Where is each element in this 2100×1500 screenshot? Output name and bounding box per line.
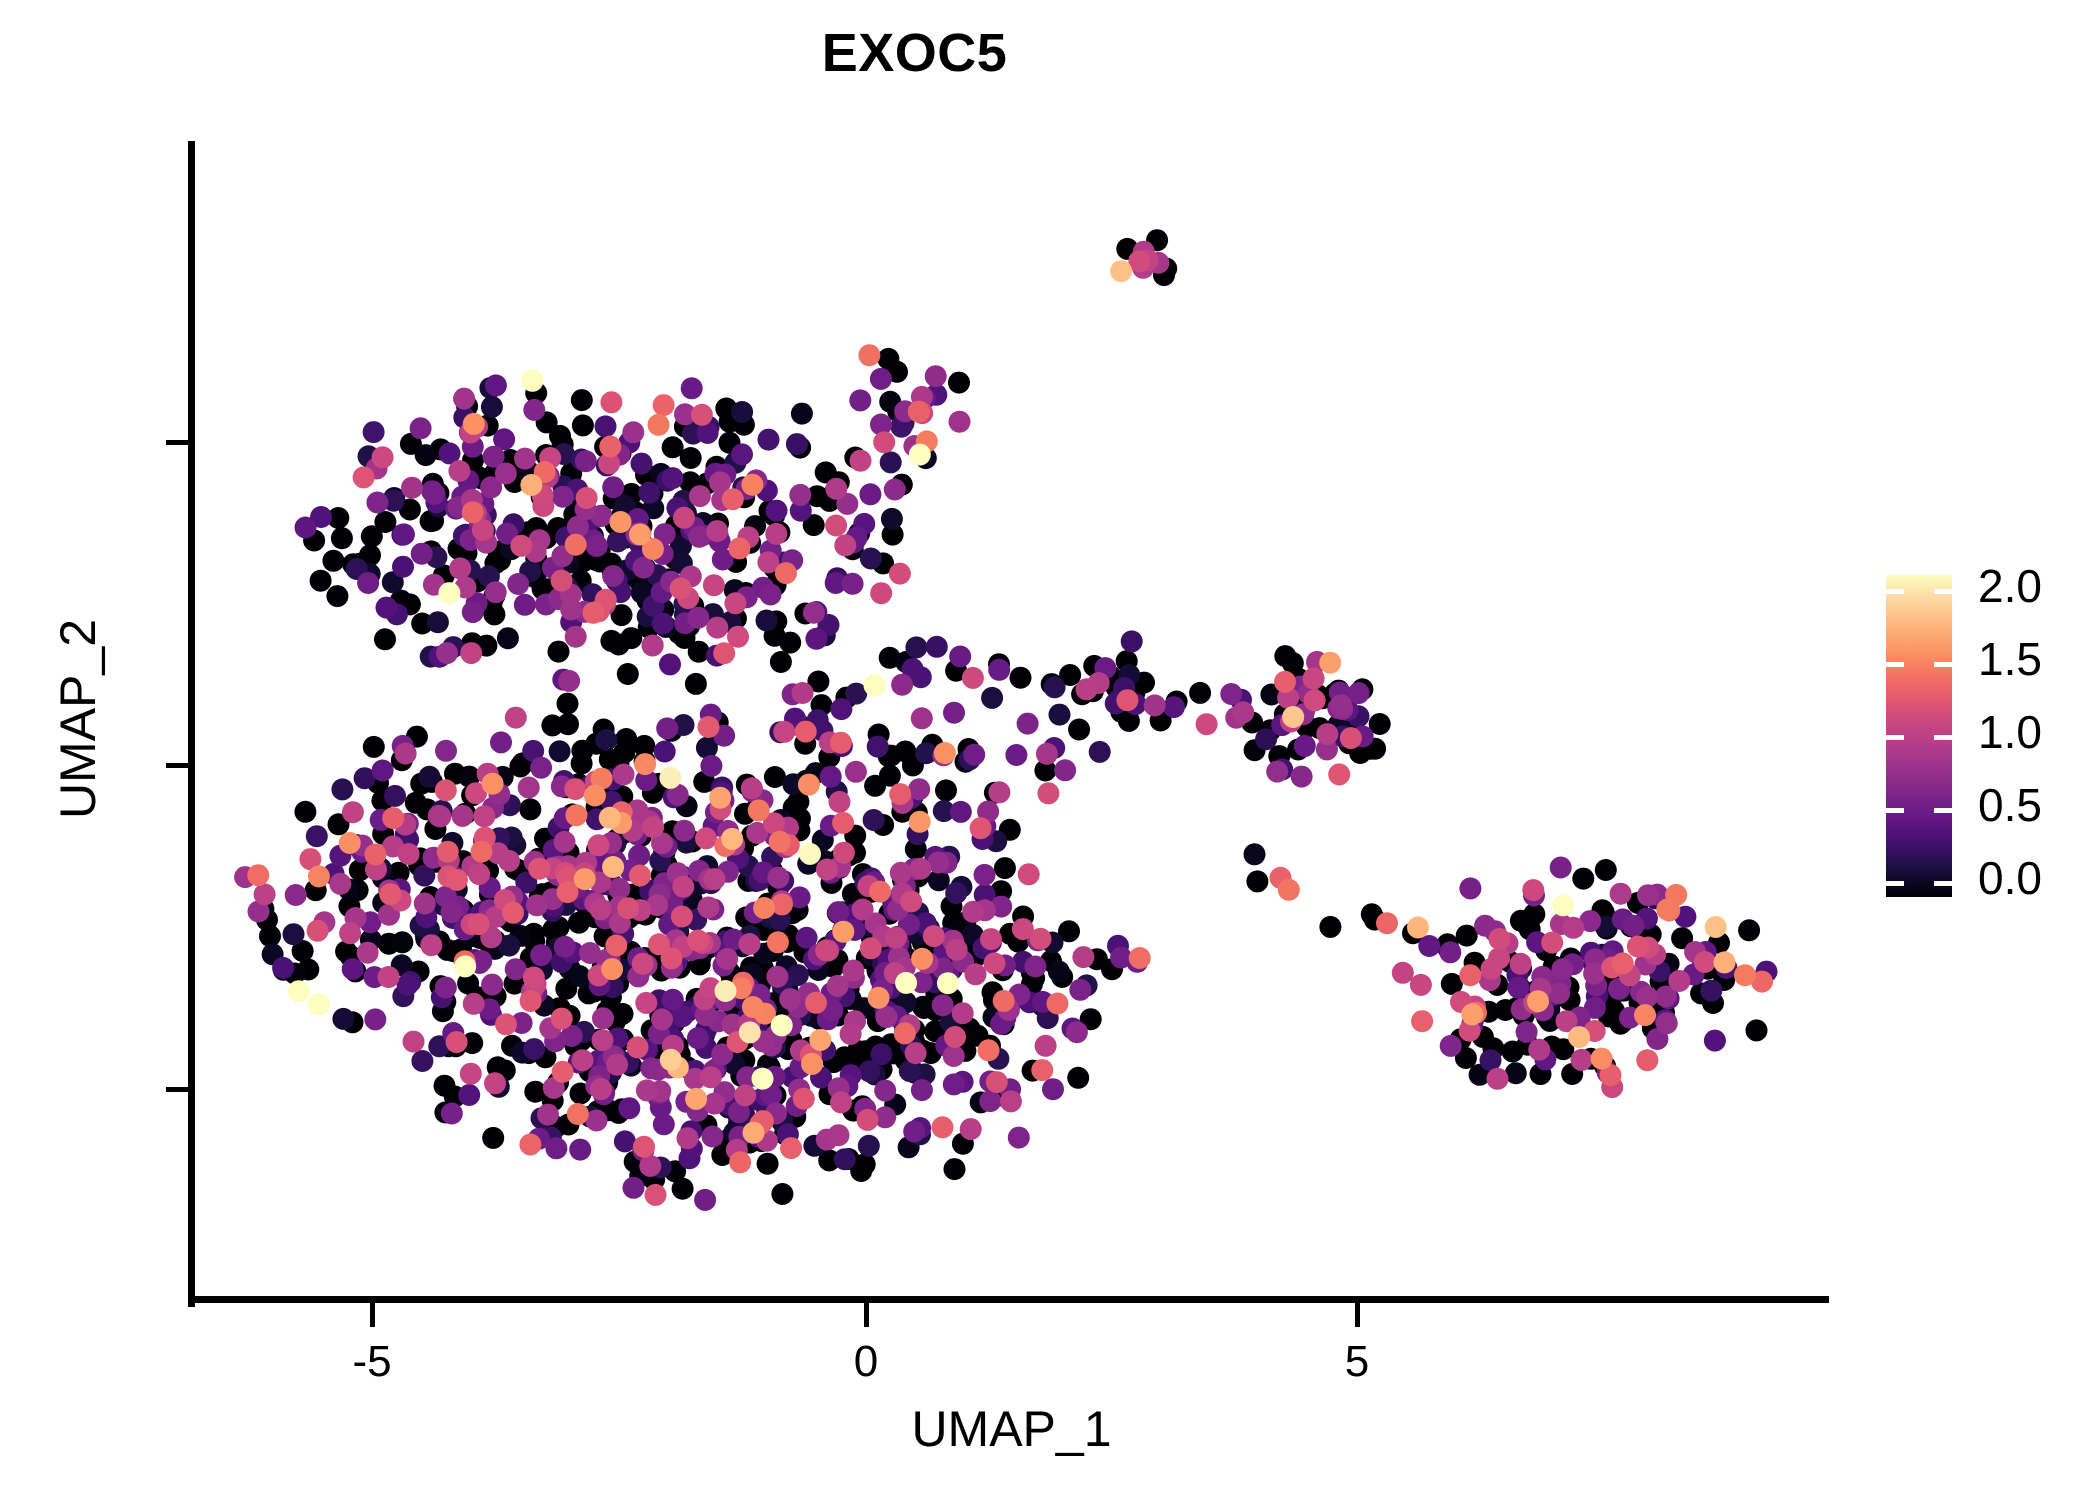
scatter-point — [590, 898, 612, 920]
scatter-point — [1024, 956, 1046, 978]
scatter-point — [963, 744, 985, 766]
scatter-point — [510, 535, 532, 557]
scatter-point — [1705, 916, 1727, 938]
scatter-point — [767, 931, 789, 953]
scatter-point — [1714, 951, 1736, 973]
scatter-point — [623, 1177, 645, 1199]
scatter-point — [653, 394, 675, 416]
scatter-point — [673, 507, 695, 529]
scatter-point — [943, 1073, 965, 1095]
scatter-point — [771, 1183, 793, 1205]
scatter-point — [595, 415, 617, 437]
scatter-point — [758, 429, 780, 451]
scatter-point — [689, 485, 711, 507]
scatter-point — [1294, 735, 1316, 757]
scatter-point — [715, 980, 737, 1002]
scatter-point — [1129, 947, 1151, 969]
scatter-point — [864, 775, 886, 797]
scatter-point — [786, 433, 808, 455]
scatter-point — [1636, 1049, 1658, 1071]
scatter-point — [481, 396, 503, 418]
scatter-point — [687, 1027, 709, 1049]
scatter-point — [852, 899, 874, 921]
scatter-point — [756, 610, 778, 632]
scatter-point — [1196, 713, 1218, 735]
scatter-point — [795, 721, 817, 743]
scatter-point — [411, 543, 433, 565]
scatter-point — [1410, 974, 1432, 996]
scatter-point — [452, 805, 474, 827]
scatter-point — [1067, 1067, 1089, 1089]
scatter-point — [490, 731, 512, 753]
scatter-point — [905, 1042, 927, 1064]
scatter-point — [372, 446, 394, 468]
scatter-point — [978, 1039, 1000, 1061]
scatter-point — [1392, 962, 1414, 984]
colorbar-tick-0-5-left — [1886, 808, 1904, 813]
scatter-point — [798, 774, 820, 796]
scatter-point — [970, 817, 992, 839]
colorbar-label-2-0: 2.0 — [1978, 559, 2042, 613]
scatter-point — [548, 641, 570, 663]
scatter-point — [983, 952, 1005, 974]
scatter-point — [773, 721, 795, 743]
scatter-point — [713, 642, 735, 664]
scatter-point — [909, 811, 931, 833]
scatter-point — [670, 578, 692, 600]
scatter-point — [520, 474, 542, 496]
scatter-point — [870, 1043, 892, 1065]
scatter-point — [514, 448, 536, 470]
scatter-point — [1541, 932, 1563, 954]
scatter-point — [860, 937, 882, 959]
scatter-point — [816, 859, 838, 881]
scatter-point — [331, 778, 353, 800]
scatter-point — [1017, 713, 1039, 735]
scatter-point — [1035, 1035, 1057, 1057]
scatter-point — [339, 922, 361, 944]
scatter-point — [741, 777, 763, 799]
scatter-point — [391, 931, 413, 953]
scatter-point — [645, 1184, 667, 1206]
scatter-point — [602, 476, 624, 498]
scatter-point — [960, 1118, 982, 1140]
scatter-point — [551, 570, 573, 592]
scatter-point — [734, 1084, 756, 1106]
scatter-point — [1548, 982, 1570, 1004]
scatter-point — [945, 882, 967, 904]
scatter-point — [307, 920, 329, 942]
scatter-point — [1694, 951, 1716, 973]
scatter-point — [571, 753, 593, 775]
scatter-point — [791, 403, 813, 425]
scatter-point — [471, 841, 493, 863]
scatter-point — [827, 901, 849, 923]
scatter-point — [688, 641, 710, 663]
scatter-point — [364, 1008, 386, 1030]
scatter-point — [867, 736, 889, 758]
scatter-point — [610, 511, 632, 533]
scatter-point — [779, 632, 801, 654]
scatter-point — [627, 1036, 649, 1058]
colorbar-label-1-0: 1.0 — [1978, 705, 2042, 759]
x-axis-line — [188, 1296, 1829, 1303]
scatter-point — [1144, 694, 1166, 716]
scatter-point — [638, 482, 660, 504]
scatter-point — [485, 581, 507, 603]
scatter-point — [1069, 979, 1091, 1001]
scatter-point — [932, 1116, 954, 1138]
scatter-point — [599, 436, 621, 458]
scatter-point — [361, 525, 383, 547]
scatter-point — [729, 1151, 751, 1173]
scatter-point — [332, 1008, 354, 1030]
scatter-point — [495, 463, 517, 485]
scatter-point — [590, 1078, 612, 1100]
scatter-point — [962, 667, 984, 689]
scatter-point — [801, 1053, 823, 1075]
scatter-point — [353, 466, 375, 488]
scatter-point — [895, 972, 917, 994]
scatter-point — [1319, 652, 1341, 674]
scatter-point — [606, 1054, 628, 1076]
scatter-point — [825, 478, 847, 500]
scatter-point — [742, 996, 764, 1018]
scatter-point — [934, 742, 956, 764]
scatter-point — [551, 1008, 573, 1030]
scatter-point — [1340, 727, 1362, 749]
scatter-point — [1266, 761, 1288, 783]
scatter-point — [468, 913, 490, 935]
scatter-point — [1440, 1035, 1462, 1057]
scatter-point — [770, 651, 792, 673]
scatter-point — [1330, 694, 1352, 716]
scatter-point — [1376, 912, 1398, 934]
x-tick-mark-m5 — [370, 1303, 375, 1327]
scatter-point — [870, 582, 892, 604]
scatter-point — [731, 401, 753, 423]
scatter-point — [1246, 870, 1268, 892]
scatter-point — [765, 523, 787, 545]
scatter-point — [602, 856, 624, 878]
scatter-point — [401, 477, 423, 499]
scatter-point — [873, 431, 895, 453]
scatter-point — [769, 831, 791, 853]
scatter-point — [994, 857, 1016, 879]
scatter-point — [909, 444, 931, 466]
scatter-point — [1627, 936, 1649, 958]
y-axis-title: UMAP_2 — [49, 369, 107, 1069]
scatter-point — [949, 646, 971, 668]
colorbar-legend: 2.0 1.5 1.0 0.5 0.0 — [1886, 575, 2086, 900]
scatter-point — [460, 642, 482, 664]
scatter-point — [858, 1135, 880, 1157]
scatter-point — [436, 642, 458, 664]
scatter-point — [891, 674, 913, 696]
scatter-point — [342, 958, 364, 980]
scatter-point — [374, 628, 396, 650]
scatter-point — [392, 556, 414, 578]
scatter-point — [858, 344, 880, 366]
scatter-point — [857, 1109, 879, 1131]
scatter-point — [1634, 1004, 1656, 1026]
scatter-point — [1487, 1068, 1509, 1090]
scatter-point — [485, 374, 507, 396]
scatter-point — [595, 729, 617, 751]
scatter-point — [753, 897, 775, 919]
scatter-point — [574, 868, 596, 890]
scatter-point — [880, 451, 902, 473]
scatter-point — [1110, 260, 1132, 282]
scatter-point — [739, 1021, 761, 1043]
scatter-point — [395, 743, 417, 765]
scatter-point — [944, 1026, 966, 1048]
scatter-point — [662, 467, 684, 489]
scatter-point — [1522, 879, 1544, 901]
scatter-point — [889, 563, 911, 585]
scatter-point — [326, 585, 348, 607]
scatter-point — [884, 479, 906, 501]
scatter-point — [446, 869, 468, 891]
scatter-point — [523, 967, 545, 989]
scatter-point — [1704, 1030, 1726, 1052]
scatter-point — [435, 740, 457, 762]
scatter-point — [1461, 1003, 1483, 1025]
scatter-point — [283, 923, 305, 945]
scatter-point — [793, 1088, 815, 1110]
scatter-point — [254, 883, 276, 905]
scatter-point — [520, 990, 542, 1012]
scatter-point — [557, 693, 579, 715]
scatter-point — [767, 867, 789, 889]
scatter-point — [631, 453, 653, 475]
scatter-point — [815, 939, 837, 961]
scatter-point — [792, 682, 814, 704]
scatter-point — [834, 534, 856, 556]
scatter-point — [890, 862, 912, 884]
scatter-point — [854, 1153, 876, 1175]
scatter-point — [1303, 668, 1325, 690]
scatter-point — [1418, 935, 1440, 957]
scatter-point — [600, 630, 622, 652]
scatter-point — [382, 807, 404, 829]
scatter-point — [900, 891, 922, 913]
scatter-point — [905, 636, 927, 658]
scatter-point — [572, 1049, 594, 1071]
scatter-point — [864, 674, 886, 696]
scatter-point — [600, 391, 622, 413]
scatter-point — [1282, 652, 1304, 674]
scatter-point — [458, 1084, 480, 1106]
scatter-point — [731, 443, 753, 465]
scatter-point — [378, 966, 400, 988]
scatter-point — [446, 1031, 468, 1053]
scatter-point — [1459, 964, 1481, 986]
scatter-point — [448, 460, 470, 482]
scatter-point — [827, 975, 849, 997]
scatter-point — [698, 716, 720, 738]
scatter-point — [599, 807, 621, 829]
scatter-point — [586, 535, 608, 557]
colorbar-tick-2-0-left — [1886, 589, 1904, 594]
scatter-point — [613, 764, 635, 786]
y-tick-mark-4 — [166, 440, 190, 445]
scatter-point — [460, 1063, 482, 1085]
scatter-point — [1481, 958, 1503, 980]
scatter-point — [1244, 843, 1266, 865]
scatter-point — [1278, 879, 1300, 901]
scatter-point — [482, 773, 504, 795]
scatter-point — [685, 1088, 707, 1110]
scatter-point — [673, 820, 695, 842]
scatter-point — [923, 925, 945, 947]
scatter-point — [398, 843, 420, 865]
scatter-point — [771, 1014, 793, 1036]
scatter-point — [329, 873, 351, 895]
scatter-point — [558, 670, 580, 692]
plot-panel — [194, 141, 1829, 1300]
scatter-point — [1551, 958, 1573, 980]
scatter-point — [766, 500, 788, 522]
colorbar-tick-0-5-right — [1934, 808, 1952, 813]
scatter-point — [526, 894, 548, 916]
scatter-point — [981, 687, 1003, 709]
scatter-point — [393, 523, 415, 545]
scatter-point — [993, 990, 1015, 1012]
scatter-point — [453, 388, 475, 410]
scatter-point — [687, 607, 709, 629]
scatter-point — [1656, 899, 1678, 921]
scatter-point — [642, 816, 664, 838]
scatter-point — [528, 858, 550, 880]
scatter-point — [1031, 1059, 1053, 1081]
scatter-point — [441, 901, 463, 923]
colorbar-tick-1-5-left — [1886, 662, 1904, 667]
scatter-point — [376, 597, 398, 619]
scatter-point — [530, 757, 552, 779]
scatter-point — [411, 1050, 433, 1072]
scatter-point — [1274, 671, 1296, 693]
scatter-point — [1089, 741, 1111, 763]
colorbar-tick-0-0-right — [1934, 881, 1952, 886]
x-axis-title: UMAP_1 — [194, 1400, 1829, 1458]
scatter-point — [651, 1008, 673, 1030]
scatter-point — [484, 1072, 506, 1094]
scatter-point — [633, 1136, 655, 1158]
y-tick-mark-0 — [166, 763, 190, 768]
scatter-point — [911, 1079, 933, 1101]
scatter-point — [932, 994, 954, 1016]
colorbar-tick-1-0-left — [1886, 735, 1904, 740]
scatter-point — [748, 799, 770, 821]
scatter-point — [514, 594, 536, 616]
scatter-point — [1049, 704, 1071, 726]
scatter-point — [988, 781, 1010, 803]
scatter-point — [635, 992, 657, 1014]
scatter-point — [565, 534, 587, 556]
colorbar-tick-2-0-right — [1934, 589, 1952, 594]
scatter-point — [944, 1158, 966, 1180]
scatter-point — [629, 865, 651, 887]
scatter-point — [677, 1127, 699, 1149]
scatter-point — [272, 957, 294, 979]
scatter-point — [903, 1121, 925, 1143]
scatter-point — [364, 844, 386, 866]
scatter-point — [1030, 928, 1052, 950]
scatter-point — [937, 972, 959, 994]
scatter-point — [384, 785, 406, 807]
scatter-point — [834, 1148, 856, 1170]
scatter-point — [653, 1113, 675, 1135]
scatter-point — [874, 1080, 896, 1102]
scatter-point — [568, 912, 590, 934]
scatter-point — [833, 842, 855, 864]
scatter-point — [1510, 953, 1532, 975]
scatter-point — [1291, 766, 1313, 788]
scatter-point — [1591, 1048, 1613, 1070]
colorbar-tick-1-0-right — [1934, 735, 1952, 740]
scatter-point — [842, 960, 864, 982]
scatter-point — [1668, 970, 1690, 992]
scatter-point — [869, 881, 891, 903]
scatter-point — [1439, 941, 1461, 963]
scatter-point — [691, 404, 713, 426]
scatter-point — [462, 501, 484, 523]
scatter-point — [568, 965, 590, 987]
scatter-point — [497, 627, 519, 649]
scatter-point — [462, 601, 484, 623]
colorbar-label-0-0: 0.0 — [1978, 851, 2042, 905]
scatter-point — [935, 779, 957, 801]
scatter-point — [943, 702, 965, 724]
scatter-point — [552, 486, 574, 508]
scatter-point — [288, 980, 310, 1002]
scatter-point — [950, 801, 972, 823]
scatter-point — [1068, 719, 1090, 741]
scatter-point — [541, 714, 563, 736]
scatter-point — [468, 863, 490, 885]
scatter-point — [1734, 964, 1756, 986]
scatter-point — [1054, 759, 1076, 781]
scatter-point — [423, 483, 445, 505]
scatter-point — [860, 548, 882, 570]
scatter-point — [285, 884, 307, 906]
scatter-point — [294, 801, 316, 823]
scatter-point — [617, 897, 639, 919]
y-axis-line — [188, 141, 195, 1307]
scatter-point — [463, 993, 485, 1015]
scatter-point — [1037, 782, 1059, 804]
scatter-point — [672, 1178, 694, 1200]
scatter-point — [1459, 877, 1481, 899]
scatter-point — [1044, 676, 1066, 698]
scatter-point — [1316, 723, 1338, 745]
scatter-point — [1637, 884, 1659, 906]
scatter-point — [575, 450, 597, 472]
scatter-point — [1010, 667, 1032, 689]
scatter-point — [703, 1093, 725, 1115]
scatter-point — [1595, 859, 1617, 881]
scatter-point — [331, 527, 353, 549]
scatter-point — [979, 1090, 1001, 1112]
scatter-point — [722, 488, 744, 510]
scatter-point — [803, 602, 825, 624]
scatter-point — [728, 537, 750, 559]
scatter-point — [523, 399, 545, 421]
scatter-point — [379, 883, 401, 905]
scatter-point — [1220, 683, 1242, 705]
scatter-point — [1489, 928, 1511, 950]
